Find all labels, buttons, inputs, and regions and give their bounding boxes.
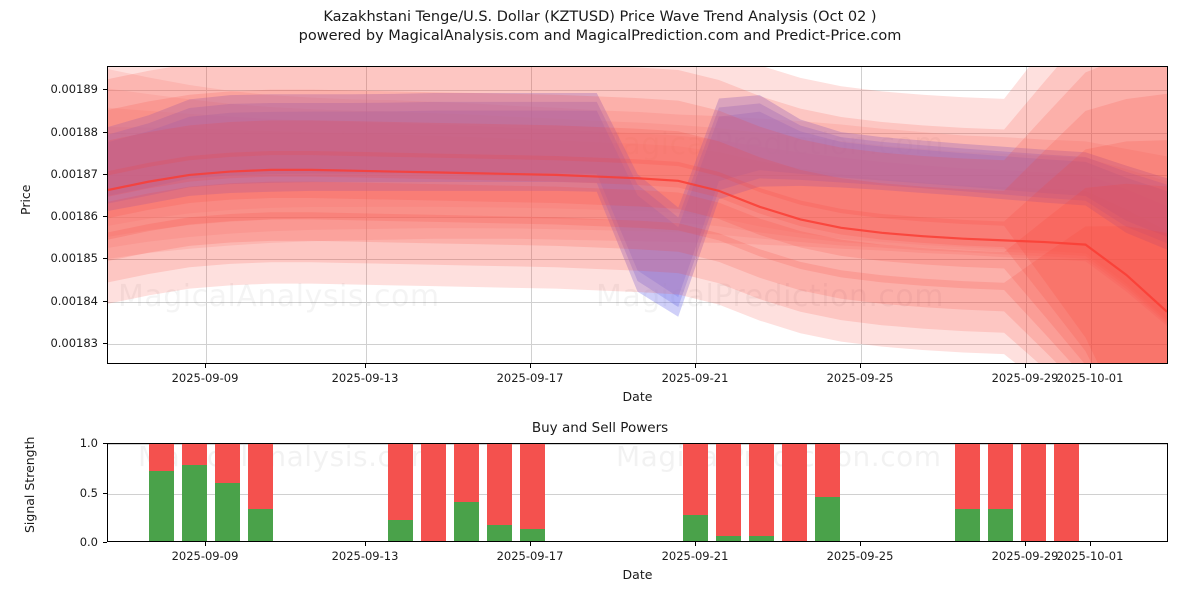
power-bar-buy-segment [248,509,273,541]
price-y-tick-label: 0.00186 [32,209,98,223]
price-y-tick-label: 0.00184 [32,294,98,308]
price-chart-y-axis-title: Price [18,185,33,216]
power-x-tick-label: 2025-09-13 [332,549,399,563]
power-bar[interactable] [421,444,446,541]
power-x-tick-mark [695,542,696,546]
power-bar[interactable] [215,444,240,541]
price-y-tick-mark [103,216,107,217]
price-y-tick-label: 0.00188 [32,125,98,139]
power-bar[interactable] [782,444,807,541]
power-bar[interactable] [955,444,980,541]
power-x-tick-label: 2025-09-21 [662,549,729,563]
power-chart-y-axis-title: Signal Strength [22,437,37,533]
power-bar[interactable] [454,444,479,541]
power-bar[interactable] [248,444,273,541]
power-bar[interactable] [182,444,207,541]
price-x-tick-label: 2025-10-01 [1057,371,1124,385]
power-bar-sell-segment [716,444,741,536]
price-y-tick-mark [103,174,107,175]
price-x-tick-label: 2025-09-29 [992,371,1059,385]
power-bar[interactable] [749,444,774,541]
power-chart-title: Buy and Sell Powers [0,420,1200,436]
price-y-tick-label: 0.00189 [32,82,98,96]
power-bar-buy-segment [487,525,512,541]
title-block: Kazakhstani Tenge/U.S. Dollar (KZTUSD) P… [0,8,1200,46]
power-bar-sell-segment [248,444,273,509]
power-bar[interactable] [388,444,413,541]
price-y-tick-mark [103,301,107,302]
price-y-tick-label: 0.00187 [32,167,98,181]
price-x-tick-label: 2025-09-21 [662,371,729,385]
power-bar[interactable] [815,444,840,541]
power-x-tick-mark [205,542,206,546]
power-bar-sell-segment [454,444,479,502]
power-x-tick-label: 2025-09-17 [497,549,564,563]
power-bar-sell-segment [520,444,545,529]
power-bar-sell-segment [421,444,446,541]
power-bar[interactable] [149,444,174,541]
power-bar-buy-segment [182,465,207,541]
power-y-tick-label: 0.0 [52,535,98,549]
price-y-tick-mark [103,258,107,259]
power-y-tick-mark [103,443,107,444]
price-x-tick-mark [205,364,206,368]
power-bar-buy-segment [988,509,1013,541]
power-y-tick-label: 1.0 [52,436,98,450]
page-title: Kazakhstani Tenge/U.S. Dollar (KZTUSD) P… [0,8,1200,27]
power-bar-sell-segment [683,444,708,515]
power-bar-buy-segment [815,497,840,541]
power-bar[interactable] [520,444,545,541]
power-bar-buy-segment [388,520,413,541]
price-x-tick-label: 2025-09-09 [172,371,239,385]
price-y-tick-label: 0.00185 [32,251,98,265]
power-bar-buy-segment [149,471,174,541]
power-x-tick-label: 2025-10-01 [1057,549,1124,563]
power-x-tick-mark [1025,542,1026,546]
power-bar[interactable] [716,444,741,541]
power-bar-sell-segment [988,444,1013,509]
power-bar-sell-segment [182,444,207,465]
power-bar-sell-segment [1054,444,1079,541]
price-chart-x-axis-title: Date [107,389,1168,404]
price-x-tick-mark [695,364,696,368]
power-x-tick-mark [1090,542,1091,546]
price-x-tick-mark [1025,364,1026,368]
price-x-tick-mark [365,364,366,368]
price-y-tick-mark [103,89,107,90]
price-y-tick-mark [103,132,107,133]
power-bar-sell-segment [782,444,807,541]
price-y-tick-label: 0.00183 [32,336,98,350]
price-x-tick-label: 2025-09-17 [497,371,564,385]
power-chart-x-axis-title: Date [107,567,1168,582]
power-y-tick-mark [103,493,107,494]
price-x-tick-mark [1090,364,1091,368]
price-x-tick-mark [860,364,861,368]
page-subtitle: powered by MagicalAnalysis.com and Magic… [0,27,1200,46]
power-bar-buy-segment [454,502,479,541]
price-wave-bands [108,67,1167,363]
power-bar-sell-segment [955,444,980,509]
power-bar-sell-segment [749,444,774,536]
price-chart-plot-area: MagicalAnalysis.com MagicalPrediction.co… [107,66,1168,364]
power-bar-buy-segment [683,515,708,541]
power-bar[interactable] [988,444,1013,541]
power-bar-sell-segment [487,444,512,525]
chart-page: Kazakhstani Tenge/U.S. Dollar (KZTUSD) P… [0,0,1200,600]
power-bar[interactable] [1054,444,1079,541]
power-chart-plot-area: MagicalAnalysis.com MagicalPrediction.co… [107,443,1168,542]
power-y-tick-mark [103,542,107,543]
power-x-tick-label: 2025-09-09 [172,549,239,563]
power-x-tick-mark [530,542,531,546]
power-x-tick-label: 2025-09-29 [992,549,1059,563]
power-bar-sell-segment [815,444,840,497]
power-bar-buy-segment [955,509,980,541]
power-y-tick-label: 0.5 [52,486,98,500]
power-bar-sell-segment [388,444,413,520]
power-bar-buy-segment [716,536,741,541]
power-x-tick-mark [365,542,366,546]
power-bar-sell-segment [215,444,240,483]
power-bar-buy-segment [749,536,774,541]
price-x-tick-mark [530,364,531,368]
price-x-tick-label: 2025-09-25 [827,371,894,385]
price-x-tick-label: 2025-09-13 [332,371,399,385]
power-x-tick-label: 2025-09-25 [827,549,894,563]
power-bar[interactable] [487,444,512,541]
power-bar-sell-segment [1021,444,1046,541]
power-bar-buy-segment [215,483,240,541]
price-y-tick-mark [103,343,107,344]
power-bar-sell-segment [149,444,174,471]
power-x-tick-mark [860,542,861,546]
power-bar[interactable] [1021,444,1046,541]
power-bar[interactable] [683,444,708,541]
power-bar-buy-segment [520,529,545,541]
